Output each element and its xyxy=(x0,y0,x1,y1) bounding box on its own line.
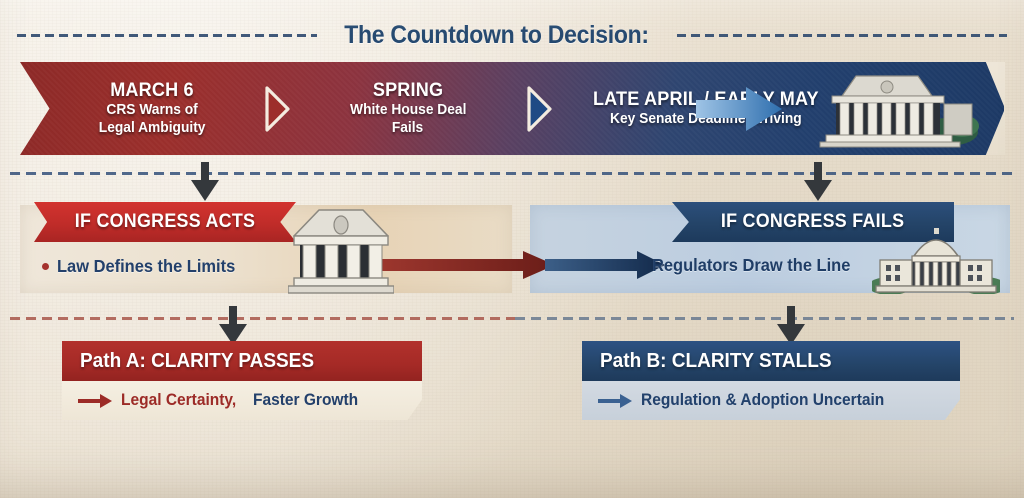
timeline-banner: MARCH 6 CRS Warns of Legal Ambiguity SPR… xyxy=(20,62,1004,155)
bullet-dot-icon xyxy=(42,263,49,270)
header-dashed-rule-right xyxy=(677,34,1007,37)
milestone-date: MARCH 6 xyxy=(110,80,194,102)
chevron-right-icon-blue xyxy=(526,86,552,132)
milestone-detail-line1: CRS Warns of xyxy=(106,102,197,119)
arrow-right-icon-red xyxy=(78,394,112,408)
down-arrow-icon xyxy=(803,162,833,202)
card-title: Path A: CLARITY PASSES xyxy=(80,350,314,373)
path-card-b[interactable]: Path B: CLARITY STALLS Regulation & Adop… xyxy=(582,341,960,420)
card-outcome-primary: Regulation & Adoption Uncertain xyxy=(641,391,884,410)
chevron-right-icon-red xyxy=(264,86,290,132)
milestone-detail-line1: White House Deal xyxy=(350,102,466,119)
card-header: Path A: CLARITY PASSES xyxy=(62,341,422,381)
divider-dashed-upper xyxy=(10,172,1014,175)
divider-dashed-lower-left xyxy=(10,317,515,320)
arrow-right-icon-blue xyxy=(545,250,665,280)
milestone-detail-line2: Legal Ambiguity xyxy=(99,120,206,137)
card-outcome-secondary: Faster Growth xyxy=(253,391,358,410)
timeline-milestone-march[interactable]: MARCH 6 CRS Warns of Legal Ambiguity xyxy=(54,80,250,136)
timeline-milestone-spring[interactable]: SPRING White House Deal Fails xyxy=(304,80,512,136)
card-header: Path B: CLARITY STALLS xyxy=(582,341,960,381)
card-title: Path B: CLARITY STALLS xyxy=(600,350,832,373)
card-body: Legal Certainty, Faster Growth xyxy=(62,381,422,420)
divider-dashed-lower-right xyxy=(515,317,1014,320)
header: The Countdown to Decision: xyxy=(0,18,1024,52)
milestone-date: SPRING xyxy=(373,80,443,102)
arrow-right-icon-blue xyxy=(598,394,632,408)
bullet-label: Regulators Draw the Line xyxy=(652,255,850,276)
page-title: The Countdown to Decision: xyxy=(345,21,650,50)
card-body: Regulation & Adoption Uncertain xyxy=(582,381,960,420)
down-arrow-icon xyxy=(776,306,806,346)
path-card-a[interactable]: Path A: CLARITY PASSES Legal Certainty, … xyxy=(62,341,422,420)
header-dashed-rule-left xyxy=(17,34,317,37)
milestone-detail-line2: Fails xyxy=(392,120,423,137)
capitol-dome-icon xyxy=(872,222,1000,294)
ribbon-if-congress-acts[interactable]: IF CONGRESS ACTS xyxy=(34,202,296,242)
bullet-label: Law Defines the Limits xyxy=(57,256,235,277)
courthouse-icon xyxy=(288,206,394,294)
down-arrow-icon xyxy=(218,306,248,346)
classical-courthouse-icon xyxy=(786,74,982,148)
down-arrow-icon xyxy=(190,162,220,202)
bullet-regulators-draw-line: Regulators Draw the Line xyxy=(652,252,882,278)
arrow-right-icon xyxy=(696,86,782,132)
card-outcome-primary: Legal Certainty, xyxy=(121,391,236,410)
ribbon-label: IF CONGRESS ACTS xyxy=(75,211,255,233)
